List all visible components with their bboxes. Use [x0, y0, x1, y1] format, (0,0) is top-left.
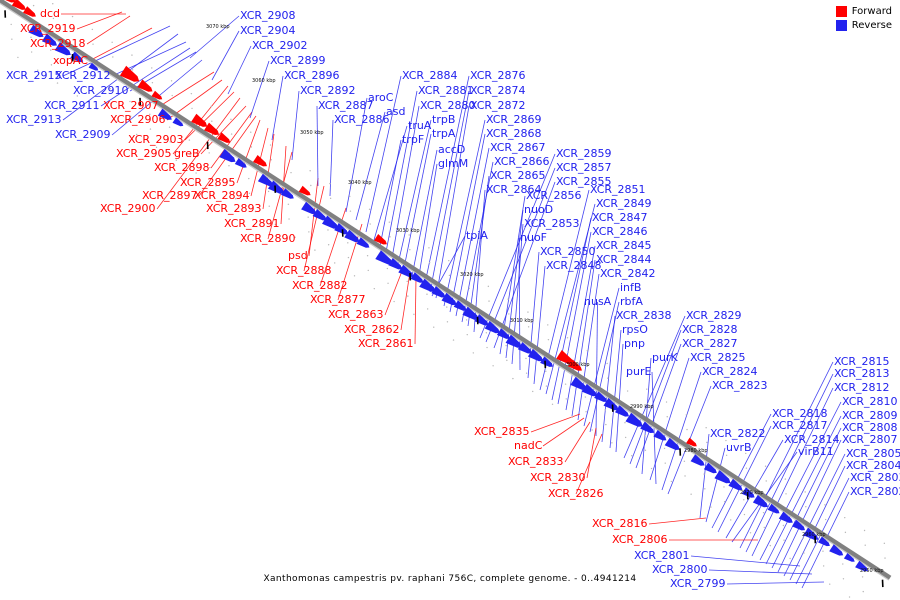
gene-label[interactable]: XCR_2861 [358, 338, 414, 349]
gene-label[interactable]: XCR_2890 [240, 233, 296, 244]
minor-tick-dot [507, 299, 508, 300]
gene-label[interactable]: trpA [432, 128, 455, 139]
minor-tick-dot [92, 29, 93, 30]
gene-label[interactable]: XCR_2918 [30, 38, 86, 49]
minor-tick-dot [684, 475, 685, 476]
minor-tick-dot [824, 504, 825, 505]
minor-tick-dot [591, 429, 592, 430]
gene-label[interactable]: XCR_2830 [530, 472, 586, 483]
minor-tick-dot [532, 391, 533, 392]
label-leader-line [746, 374, 833, 552]
axis-tick-label: 2960 kbp [802, 532, 826, 538]
minor-tick-dot [251, 146, 252, 147]
gene-label[interactable]: virB11 [798, 446, 834, 457]
gene-label[interactable]: XCR_2909 [55, 129, 111, 140]
minor-tick-dot [671, 481, 672, 482]
minor-tick-dot [525, 358, 526, 359]
minor-tick-dot [112, 56, 113, 57]
label-leader-line [602, 316, 615, 442]
gene-label[interactable]: XCR_2801 [634, 550, 690, 561]
label-leader-line [160, 72, 214, 106]
minor-tick-dot [508, 313, 509, 314]
minor-tick-dot [750, 532, 751, 533]
gene-label[interactable]: XCR_2893 [206, 203, 262, 214]
minor-tick-dot [845, 532, 846, 533]
gene-label[interactable]: XCR_2805 [846, 448, 900, 459]
legend-reverse-swatch [836, 20, 847, 31]
gene-label[interactable]: XCR_2816 [592, 518, 648, 529]
gene-label[interactable]: XCR_2911 [44, 100, 100, 111]
gene-label[interactable]: glmM [438, 158, 468, 169]
minor-tick-dot [611, 442, 612, 443]
minor-tick-dot [308, 231, 309, 232]
gene-label[interactable]: XCR_2888 [276, 265, 332, 276]
minor-tick-dot [684, 461, 685, 462]
gene-label[interactable]: XCR_2804 [846, 460, 900, 471]
minor-tick-dot [730, 519, 731, 520]
gene-label[interactable]: XCR_2814 [784, 434, 840, 445]
label-leader-line [89, 28, 152, 61]
gene-label[interactable]: XCR_2803 [850, 472, 900, 483]
minor-tick-dot [347, 242, 348, 243]
minor-tick-dot [884, 557, 885, 558]
figure-caption: Xanthomonas campestris pv. raphani 756C,… [0, 574, 900, 584]
gene-label[interactable]: XCR_2833 [508, 456, 564, 467]
gene-label[interactable]: XCR_2906 [110, 114, 166, 125]
minor-tick-dot [625, 437, 626, 438]
minor-tick-dot [469, 288, 470, 289]
minor-tick-dot [270, 144, 271, 145]
gene-label[interactable]: XCR_2802 [850, 486, 900, 497]
minor-tick-dot [651, 468, 652, 469]
minor-tick-dot [406, 281, 407, 282]
gene-label[interactable]: trpB [432, 114, 455, 125]
minor-tick-dot [805, 506, 806, 507]
gene-label[interactable]: XCR_2866 [494, 156, 550, 167]
minor-tick-dot [765, 466, 766, 467]
minor-tick-dot [210, 106, 211, 107]
gene-label[interactable]: XCR_2867 [490, 142, 546, 153]
label-leader-line [190, 16, 239, 58]
minor-tick-dot [453, 339, 454, 340]
minor-tick-dot [387, 268, 388, 269]
gene-label[interactable]: XCR_2872 [470, 100, 526, 111]
minor-tick-dot [704, 488, 705, 489]
minor-tick-dot [334, 262, 335, 263]
minor-tick-dot [172, 95, 173, 96]
axis-tick-label: 3020 kbp [460, 272, 484, 278]
minor-tick-dot [585, 396, 586, 397]
gene-label[interactable]: XCR_2850 [540, 246, 596, 257]
minor-tick-dot [705, 427, 706, 428]
minor-tick-dot [349, 196, 350, 197]
gene-label[interactable]: XCR_2896 [284, 70, 340, 81]
minor-tick-dot [191, 93, 192, 94]
minor-tick-dot [11, 38, 12, 39]
gene-label[interactable]: XCR_2881 [418, 85, 474, 96]
minor-tick-dot [348, 257, 349, 258]
minor-tick-dot [132, 69, 133, 70]
gene-label[interactable]: XCR_2829 [686, 310, 742, 321]
gene-label[interactable]: dcd [40, 8, 60, 19]
gene-label[interactable]: XCR_2846 [592, 226, 648, 237]
gene-label[interactable]: XCR_2882 [292, 280, 348, 291]
label-leader-line [576, 434, 602, 494]
gene-label[interactable]: XCR_2902 [252, 40, 308, 51]
minor-tick-dot [624, 422, 625, 423]
minor-tick-dot [208, 152, 209, 153]
minor-tick-dot [567, 337, 568, 338]
minor-tick-dot [686, 429, 687, 430]
gene-label[interactable]: truA [408, 120, 431, 131]
gene-label[interactable]: XCR_2898 [154, 162, 210, 173]
gene-label[interactable]: XCR_2892 [300, 85, 356, 96]
gene-label[interactable]: XCR_2824 [702, 366, 758, 377]
minor-tick-dot [409, 249, 410, 250]
gene-label[interactable]: asd [386, 106, 405, 117]
gene-label[interactable]: XCR_2880 [420, 100, 476, 111]
axis-tick-label: 3010 kbp [510, 318, 534, 324]
gene-label[interactable]: purE [626, 366, 651, 377]
minor-tick-dot [884, 543, 885, 544]
gene-label[interactable]: XCR_2809 [842, 410, 898, 421]
minor-tick-dot [744, 514, 745, 515]
minor-tick-dot [369, 209, 370, 210]
minor-tick-dot [746, 467, 747, 468]
gene-label[interactable]: XCR_2806 [612, 534, 668, 545]
minor-tick-dot [566, 398, 567, 399]
minor-tick-dot [152, 82, 153, 83]
gene-label[interactable]: XCR_2897 [142, 190, 198, 201]
minor-tick-dot [488, 286, 489, 287]
minor-tick-dot [330, 198, 331, 199]
gene-label[interactable]: XCR_2895 [180, 177, 236, 188]
gene-label[interactable]: XCR_2887 [318, 100, 374, 111]
gene-label[interactable]: XCR_2848 [546, 260, 602, 271]
label-leader-line [272, 76, 283, 140]
minor-tick-dot [803, 552, 804, 553]
minor-tick-dot [710, 506, 711, 507]
axis-tick-label: 2990 kbp [630, 404, 654, 410]
gene-label[interactable]: XCR_2856 [526, 190, 582, 201]
minor-tick-dot [703, 473, 704, 474]
axis-tick-label: 3030 kbp [396, 228, 420, 234]
minor-tick-dot [52, 3, 53, 4]
minor-tick-dot [169, 127, 170, 128]
minor-tick-dot [151, 67, 152, 68]
minor-tick-dot [585, 411, 586, 412]
label-leader-line [87, 16, 130, 44]
minor-tick-dot [766, 480, 767, 481]
minor-tick-dot [605, 424, 606, 425]
minor-tick-dot [686, 414, 687, 415]
gene-label[interactable]: XCR_2813 [834, 368, 890, 379]
minor-tick-dot [189, 139, 190, 140]
gene-label[interactable]: nusA [584, 296, 611, 307]
gene-label[interactable]: XCR_2912 [55, 70, 111, 81]
minor-tick-dot [527, 311, 528, 312]
minor-tick-dot [314, 249, 315, 250]
gene-label[interactable]: XCR_2868 [486, 128, 542, 139]
gene-label[interactable]: XCR_2838 [616, 310, 672, 321]
gene-label[interactable]: XCR_2825 [690, 352, 746, 363]
minor-tick-dot [387, 283, 388, 284]
gene-label[interactable]: XCR_2891 [224, 218, 280, 229]
minor-tick-dot [307, 216, 308, 217]
minor-tick-dot [545, 371, 546, 372]
minor-tick-dot [31, 51, 32, 52]
minor-tick-dot [488, 300, 489, 301]
gene-label[interactable]: XCR_2908 [240, 10, 296, 21]
minor-tick-dot [248, 178, 249, 179]
minor-tick-dot [823, 565, 824, 566]
minor-tick-dot [785, 493, 786, 494]
minor-tick-dot [690, 494, 691, 495]
gene-label[interactable]: XCR_2828 [682, 324, 738, 335]
minor-tick-dot [783, 525, 784, 526]
minor-tick-dot [645, 450, 646, 451]
legend: Forward Reverse [836, 6, 892, 34]
minor-tick-dot [548, 339, 549, 340]
minor-tick-dot [448, 260, 449, 261]
gene-label[interactable]: XCR_2847 [592, 212, 648, 223]
minor-tick-dot [809, 571, 810, 572]
gene-label[interactable]: XCR_2884 [402, 70, 458, 81]
gene-label[interactable]: XCR_2844 [596, 254, 652, 265]
gene-label[interactable]: XCR_2851 [590, 184, 646, 195]
axis-tick-label: 3000 kbp [566, 362, 590, 368]
gene-label[interactable]: XCR_2862 [344, 324, 400, 335]
minor-tick-dot [724, 501, 725, 502]
minor-tick-dot [604, 409, 605, 410]
gene-label[interactable]: XCR_2905 [116, 148, 172, 159]
gene-label[interactable]: XCR_2874 [470, 85, 526, 96]
label-leader-line [330, 120, 333, 196]
minor-tick-dot [10, 24, 11, 25]
gene-label[interactable]: XCR_2810 [842, 396, 898, 407]
minor-tick-dot [389, 221, 390, 222]
gene-label[interactable]: XCR_2907 [103, 100, 159, 111]
minor-tick-dot [842, 563, 843, 564]
minor-tick-dot [171, 80, 172, 81]
minor-tick-dot [288, 218, 289, 219]
minor-tick-dot [723, 486, 724, 487]
gene-label[interactable]: XCR_2894 [194, 190, 250, 201]
minor-tick-dot [546, 385, 547, 386]
label-leader-line [212, 31, 239, 80]
legend-reverse-label: Reverse [852, 20, 892, 31]
minor-tick-dot [512, 378, 513, 379]
gene-label[interactable]: XCR_2859 [556, 148, 612, 159]
minor-tick-dot [268, 191, 269, 192]
gene-label[interactable]: XCR_2808 [842, 422, 898, 433]
gene-label[interactable]: XCR_2863 [328, 309, 384, 320]
minor-tick-dot [572, 416, 573, 417]
gene-label[interactable]: uvrB [726, 442, 752, 453]
minor-tick-dot [466, 319, 467, 320]
minor-tick-dot [368, 270, 369, 271]
minor-tick-dot [726, 455, 727, 456]
minor-tick-dot [271, 159, 272, 160]
gene-label[interactable]: XCR_2823 [712, 380, 768, 391]
gene-label[interactable]: XCR_2807 [842, 434, 898, 445]
label-leader-line [519, 238, 520, 370]
gene-label[interactable]: infB [620, 282, 641, 293]
minor-tick-dot [408, 234, 409, 235]
minor-tick-dot [290, 172, 291, 173]
minor-tick-dot [17, 57, 18, 58]
gene-label[interactable]: XCR_2845 [596, 240, 652, 251]
minor-tick-dot [374, 288, 375, 289]
minor-tick-dot [528, 326, 529, 327]
gene-label[interactable]: XCR_2877 [310, 294, 366, 305]
axis-tick-label: 3070 kbp [206, 24, 230, 30]
minor-tick-dot [825, 519, 826, 520]
gene-label[interactable]: accD [438, 144, 465, 155]
gene-label[interactable]: aroC [368, 92, 393, 103]
gene-label[interactable]: nuoD [524, 204, 553, 215]
gene-label[interactable]: XCR_2835 [474, 426, 530, 437]
minor-tick-dot [865, 545, 866, 546]
gene-label[interactable]: XCR_2915 [6, 70, 62, 81]
gene-label[interactable]: XCR_2826 [548, 488, 604, 499]
axis-tick-label: 2980 kbp [684, 448, 708, 454]
gene-label[interactable]: rpsO [622, 324, 648, 335]
axis-tick-label: 3050 kbp [300, 130, 324, 136]
genome-map-canvas: dcdXCR_2919XCR_2918xopACXCR_2915XCR_2912… [0, 0, 900, 600]
gene-label[interactable]: xopAC [53, 55, 88, 66]
gene-label[interactable]: XCR_2817 [772, 420, 828, 431]
legend-forward-swatch [836, 6, 847, 17]
legend-item: Forward [836, 6, 892, 17]
minor-tick-dot [250, 132, 251, 133]
minor-tick-dot [743, 499, 744, 500]
gene-label[interactable]: psd [288, 250, 308, 261]
minor-tick-dot [288, 204, 289, 205]
axis-tick-label: 3060 kbp [252, 78, 276, 84]
gene-label[interactable]: XCR_2903 [128, 134, 184, 145]
gene-label[interactable]: XCR_2919 [20, 23, 76, 34]
minor-tick-dot [211, 121, 212, 122]
gene-label[interactable]: XCR_2857 [556, 162, 612, 173]
gene-label[interactable]: XCR_2849 [596, 198, 652, 209]
gene-label[interactable]: XCR_2899 [270, 55, 326, 66]
minor-tick-dot [309, 170, 310, 171]
minor-tick-dot [665, 462, 666, 463]
gene-label[interactable]: XCR_2815 [834, 356, 890, 367]
label-leader-line [596, 302, 598, 436]
minor-tick-dot [428, 247, 429, 248]
minor-tick-dot [547, 324, 548, 325]
gene-label[interactable]: nadC [514, 440, 542, 451]
minor-tick-dot [552, 404, 553, 405]
minor-tick-dot [627, 390, 628, 391]
gene-label[interactable]: XCR_2842 [600, 268, 656, 279]
minor-tick-dot [191, 108, 192, 109]
label-leader-line [700, 434, 709, 518]
label-leader-line [228, 46, 251, 94]
gene-label[interactable]: rbfA [620, 296, 643, 307]
minor-tick-dot [433, 327, 434, 328]
minor-tick-dot [131, 54, 132, 55]
label-leader-line [77, 12, 122, 29]
minor-tick-dot [370, 223, 371, 224]
minor-tick-dot [492, 365, 493, 366]
minor-tick-dot [329, 183, 330, 184]
minor-tick-dot [664, 448, 665, 449]
gene-label[interactable]: XCR_2876 [470, 70, 526, 81]
minor-tick-dot [606, 363, 607, 364]
gene-label[interactable]: greB [174, 148, 200, 159]
label-leader-line [534, 266, 545, 384]
gene-label[interactable]: XCR_2822 [710, 428, 766, 439]
minor-tick-dot [429, 262, 430, 263]
minor-tick-dot [644, 435, 645, 436]
minor-tick-dot [327, 229, 328, 230]
label-leader-line [317, 106, 318, 186]
minor-tick-dot [269, 205, 270, 206]
minor-tick-dot [783, 540, 784, 541]
minor-tick-dot [354, 275, 355, 276]
gene-label[interactable]: XCR_2910 [73, 85, 129, 96]
gene-label[interactable]: XCR_2853 [524, 218, 580, 229]
minor-tick-dot [486, 332, 487, 333]
gene-label[interactable]: XCR_2900 [100, 203, 156, 214]
gene-label[interactable]: purK [652, 352, 678, 363]
minor-tick-dot [486, 347, 487, 348]
gene-label[interactable]: XCR_2913 [6, 114, 62, 125]
minor-tick-dot [446, 306, 447, 307]
gene-label[interactable]: XCR_2827 [682, 338, 738, 349]
gene-label[interactable]: trpF [402, 134, 424, 145]
minor-tick-dot [849, 596, 850, 597]
minor-tick-dot [92, 43, 93, 44]
minor-tick-dot [150, 128, 151, 129]
label-leader-line [401, 272, 410, 330]
label-leader-line [418, 164, 437, 282]
minor-tick-dot [51, 64, 52, 65]
gene-label[interactable]: XCR_2818 [772, 408, 828, 419]
gene-label[interactable]: XCR_2886 [334, 114, 390, 125]
gene-label[interactable]: XCR_2865 [490, 170, 546, 181]
axis-tick-label: 2970 kbp [740, 490, 764, 496]
minor-tick-dot [844, 517, 845, 518]
minor-tick-dot [473, 352, 474, 353]
minor-tick-dot [646, 388, 647, 389]
gene-label[interactable]: pnp [624, 338, 645, 349]
label-leader-line [796, 478, 849, 584]
minor-tick-dot [426, 294, 427, 295]
minor-tick-dot [447, 321, 448, 322]
gene-label[interactable]: XCR_2812 [834, 382, 890, 393]
minor-tick-dot [449, 275, 450, 276]
minor-tick-dot [526, 373, 527, 374]
gene-label[interactable]: nuoF [520, 232, 547, 243]
minor-tick-dot [804, 491, 805, 492]
gene-label[interactable]: XCR_2904 [240, 25, 296, 36]
minor-tick-dot [407, 295, 408, 296]
minor-tick-dot [111, 42, 112, 43]
gene-label[interactable]: tpiA [466, 230, 488, 241]
label-leader-line [412, 150, 437, 276]
label-leader-line [415, 278, 416, 344]
minor-tick-dot [506, 360, 507, 361]
minor-tick-dot [763, 512, 764, 513]
minor-tick-dot [228, 165, 229, 166]
gene-label[interactable]: XCR_2869 [486, 114, 542, 125]
minor-tick-dot [290, 157, 291, 158]
axis-tick-label: 3040 kbp [348, 180, 372, 186]
